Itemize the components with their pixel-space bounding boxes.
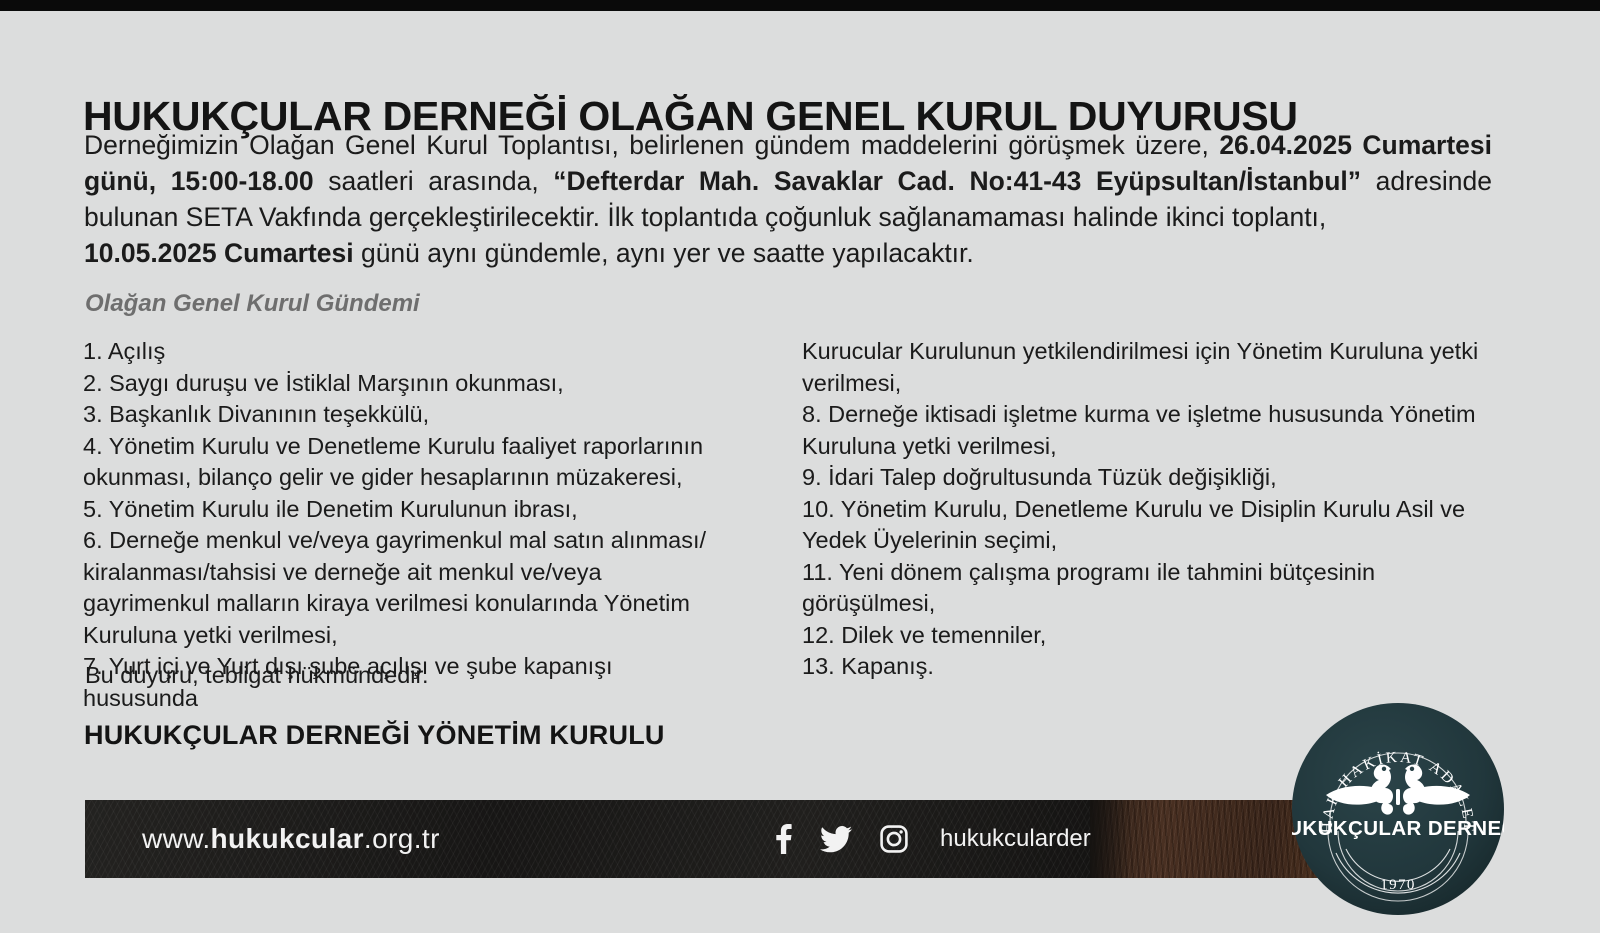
agenda-item: 9. İdari Talep doğrultusunda Tüzük değiş… (802, 462, 1482, 494)
intro-bold-address: “Defterdar Mah. Savaklar Cad. No:41-43 E… (553, 166, 1361, 196)
agenda-item: 1. Açılış (83, 336, 723, 368)
intro-segment-1: Derneğimizin Olağan Genel Kurul Toplantı… (84, 130, 1219, 160)
intro-segment-4: günü aynı gündemle, aynı yer ve saatte y… (354, 238, 974, 268)
agenda-item: 8. Derneğe iktisadi işletme kurma ve işl… (802, 399, 1482, 462)
agenda-item: Kurucular Kurulunun yetkilendirilmesi iç… (802, 336, 1482, 399)
agenda-item: 2. Saygı duruşu ve İstiklal Marşının oku… (83, 368, 723, 400)
intro-paragraph: Derneğimizin Olağan Genel Kurul Toplantı… (84, 127, 1492, 271)
agenda-item: 3. Başkanlık Divanının teşekkülü, (83, 399, 723, 431)
agenda-item: 11. Yeni dönem çalışma programı ile tahm… (802, 557, 1482, 620)
intro-bold-date-2: 10.05.2025 Cumartesi (84, 238, 354, 268)
url-suffix: .org.tr (364, 823, 440, 854)
agenda-column-right: Kurucular Kurulunun yetkilendirilmesi iç… (802, 336, 1482, 683)
website-url[interactable]: www.hukukcular.org.tr (142, 823, 440, 855)
intro-segment-2: saatleri arasında, (314, 166, 554, 196)
agenda-item: 10. Yönetim Kurulu, Denetleme Kurulu ve … (802, 494, 1482, 557)
social-links: hukukcularder (775, 824, 1091, 854)
footer-bar: www.hukukcular.org.tr hukukcular (85, 800, 1415, 878)
agenda-item: 4. Yönetim Kurulu ve Denetleme Kurulu fa… (83, 431, 723, 494)
agenda-item: 12. Dilek ve temenniler, (802, 620, 1482, 652)
logo-name-text: HUKUKÇULAR DERNEĞİ (1292, 816, 1504, 840)
agenda-item: 13. Kapanış. (802, 651, 1482, 683)
url-prefix: www. (142, 823, 211, 854)
instagram-icon[interactable] (880, 825, 908, 853)
social-handle: hukukcularder (940, 825, 1091, 853)
agenda-item: 5. Yönetim Kurulu ile Denetim Kurulunun … (83, 494, 723, 526)
association-logo: HAK HAKİKAT ADALET HUKUKÇULAR DERNEĞİ (1292, 703, 1504, 915)
announcement-page: HUKUKÇULAR DERNEĞİ OLAĞAN GENEL KURUL DU… (0, 0, 1600, 933)
url-domain: hukukcular (211, 823, 364, 854)
closing-note: Bu duyuru, tebligat hükmündedir. (85, 662, 429, 689)
signature-line: HUKUKÇULAR DERNEĞİ YÖNETİM KURULU (84, 720, 665, 751)
logo-year-text: 1970 (1380, 877, 1416, 893)
agenda-column-left: 1. Açılış 2. Saygı duruşu ve İstiklal Ma… (83, 336, 723, 714)
twitter-icon[interactable] (820, 826, 852, 853)
top-rule-divider (0, 0, 1600, 11)
agenda-heading: Olağan Genel Kurul Gündemi (85, 290, 420, 318)
facebook-icon[interactable] (775, 824, 792, 854)
agenda-item: 6. Derneğe menkul ve/veya gayrimenkul ma… (83, 525, 723, 651)
